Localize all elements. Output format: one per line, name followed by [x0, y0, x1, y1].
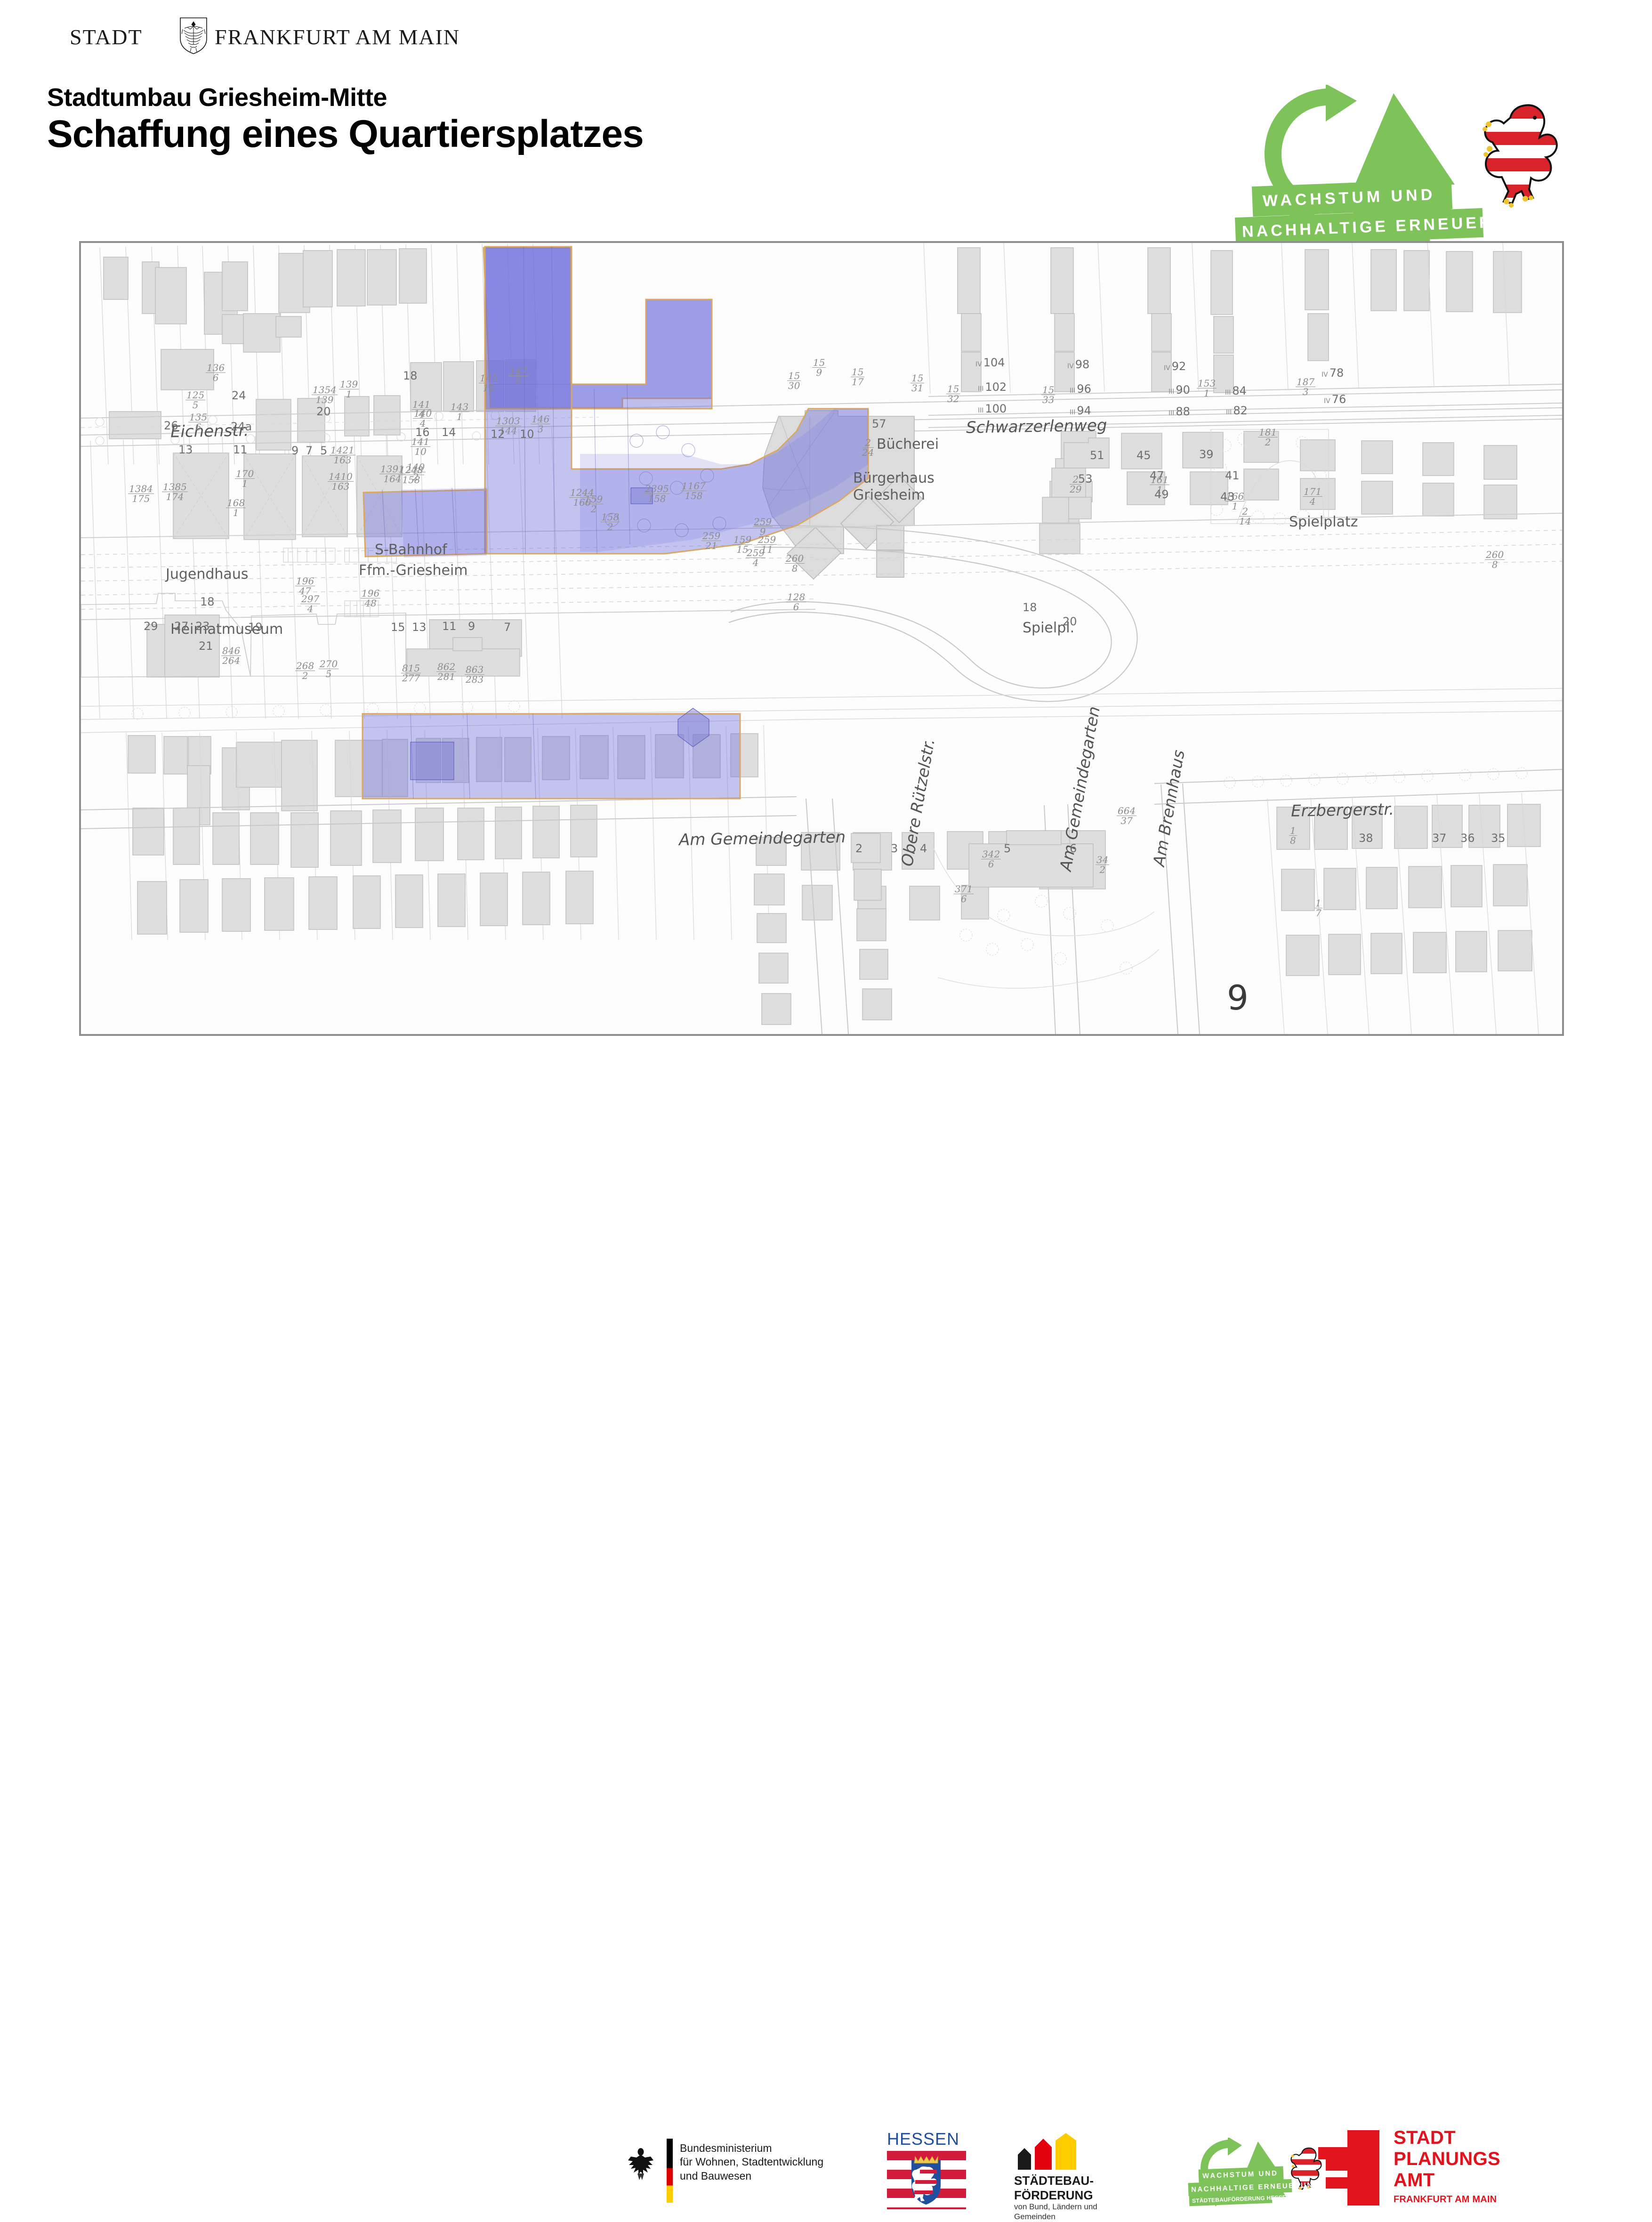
- parcel-number: 3426: [981, 849, 1001, 869]
- staedtebaufoerderung-logo: STÄDTEBAU- FÖRDERUNG von Bund, Ländern u…: [1012, 2133, 1149, 2213]
- parcel-number: 1385174: [162, 482, 188, 501]
- svg-text:9: 9: [1227, 978, 1249, 1018]
- parcel-number: 19647: [295, 576, 315, 596]
- parcel-number: 2608: [1485, 550, 1505, 569]
- street-label: Schwarzerlenweg: [966, 416, 1107, 437]
- parcel-number: 846264: [221, 646, 241, 665]
- parcel-number: 2608: [785, 554, 805, 573]
- parcel-number: 159: [812, 358, 826, 377]
- hessen-wordmark: HESSEN: [887, 2129, 959, 2149]
- house-number: 19: [248, 621, 263, 634]
- house-number: 27: [174, 620, 189, 633]
- parcel-number: 1404: [413, 409, 433, 428]
- page-header: STADT FRANKFU: [0, 0, 1652, 221]
- house-number: 13: [178, 443, 193, 456]
- house-number: 49: [1154, 488, 1169, 501]
- house-number: 53: [1078, 472, 1093, 485]
- house-number: IV78: [1322, 366, 1344, 380]
- house-number: 57: [872, 417, 886, 430]
- house-number: 35: [1491, 832, 1506, 845]
- house-number: 51: [1090, 449, 1104, 462]
- stbf-sub2: Gemeinden: [1014, 2212, 1097, 2222]
- street-label: Erzbergerstr.: [1291, 800, 1394, 821]
- spa-line1: STADT: [1394, 2127, 1500, 2149]
- stadtplanungsamt-mark-icon: [1318, 2130, 1379, 2206]
- house-number: 37: [1432, 832, 1447, 845]
- bundesadler-icon: [626, 2145, 655, 2182]
- parcel-number: 1410163: [328, 472, 354, 491]
- parcel-number: 1384175: [128, 484, 154, 503]
- parcel-number: 224: [862, 438, 874, 457]
- house-number: 24: [232, 389, 246, 402]
- house-number: 20: [1063, 615, 1077, 628]
- house-number: III82: [1226, 404, 1248, 417]
- house-number: 15: [391, 621, 405, 634]
- house-number: III94: [1070, 404, 1091, 417]
- house-number: III102: [978, 380, 1007, 394]
- three-houses-icon: [1014, 2133, 1085, 2171]
- parcel-number: 863283: [465, 665, 484, 684]
- hessen-shield-lion-icon: [911, 2154, 942, 2206]
- house-number: 4: [920, 842, 927, 855]
- parcel-number: 18: [1289, 826, 1297, 845]
- house-number: 26: [164, 419, 178, 432]
- parcel-number: 2974: [300, 594, 320, 614]
- place-label: Bürgerhaus: [853, 470, 935, 486]
- house-number: 2: [855, 842, 862, 855]
- stbf-sub1: von Bund, Ländern und: [1014, 2202, 1097, 2212]
- house-number: 5: [1004, 842, 1011, 855]
- hessen-lion-icon: [1469, 97, 1563, 215]
- house-number: 5: [320, 444, 327, 457]
- house-number: III96: [1070, 382, 1091, 396]
- parcel-number: 1421163: [330, 445, 355, 465]
- place-label: S-Bahnhof: [375, 541, 447, 558]
- parcel-number: 2705: [319, 659, 338, 679]
- parcel-number: 1681: [226, 498, 246, 517]
- house-number: 10: [520, 428, 534, 441]
- stbf-line1: STÄDTEBAU-: [1014, 2174, 1094, 2188]
- parcel-number: 66437: [1117, 806, 1136, 825]
- spa-subline: FRANKFURT AM MAIN: [1394, 2194, 1497, 2205]
- house-number: 9: [291, 444, 298, 457]
- house-number: 43: [1220, 490, 1235, 503]
- staedtebaufoerderung-sub: von Bund, Ländern und Gemeinden: [1014, 2202, 1097, 2222]
- house-number: 9: [468, 620, 475, 633]
- parcel-number: 1476: [508, 366, 528, 386]
- page-title: Schaffung eines Quartiersplatzes: [47, 112, 644, 156]
- parcel-number: 1701: [235, 469, 255, 488]
- house-number: III84: [1225, 384, 1247, 397]
- parcel-number: 1244160: [569, 488, 595, 507]
- parcel-number: 1812: [1258, 428, 1278, 447]
- house-number: 20: [316, 405, 331, 418]
- parcel-number: 1531: [911, 373, 924, 393]
- house-number: 21: [199, 639, 213, 653]
- parcel-number: 2682: [295, 661, 315, 680]
- stadt-frankfurt-logo: STADT FRANKFU: [70, 23, 371, 52]
- parcel-number: 1873: [1296, 377, 1315, 396]
- parcel-number: 3716: [954, 884, 974, 904]
- spa-line3: AMT: [1394, 2170, 1500, 2191]
- house-number: IV98: [1067, 358, 1089, 371]
- parcel-number: 1286: [786, 592, 806, 612]
- house-number: 13: [412, 621, 427, 634]
- bundesministerium-logo: Bundesministerium für Wohnen, Stadtentwi…: [626, 2137, 847, 2205]
- house-number: 3: [891, 842, 898, 855]
- house-number: III88: [1168, 405, 1190, 418]
- parcel-number: 25921: [701, 531, 721, 550]
- house-number: 7: [306, 444, 313, 457]
- house-number: 11: [233, 443, 248, 456]
- house-number: 18: [403, 369, 418, 382]
- cadastral-map[interactable]: 9: [79, 241, 1564, 1036]
- house-number: 41: [1225, 469, 1240, 482]
- parcel-number: 17: [1314, 898, 1322, 918]
- house-number: IV76: [1324, 393, 1346, 406]
- bmwsb-line1: Bundesministerium: [680, 2141, 823, 2155]
- house-number: 18: [200, 595, 215, 608]
- parcel-number: 342: [1096, 855, 1109, 874]
- parcel-number: 1517: [851, 367, 864, 387]
- house-number: 18: [1023, 601, 1037, 614]
- bmwsb-line3: und Bauwesen: [680, 2169, 823, 2183]
- house-number: 39: [1199, 448, 1214, 461]
- parcel-number: 1356: [188, 412, 208, 432]
- parcel-number: 1366: [206, 363, 226, 382]
- stadtplanungsamt-wordmark: STADT PLANUNGS AMT: [1394, 2127, 1500, 2190]
- parcel-number: 2594: [746, 548, 766, 567]
- hessen-logo: HESSEN: [884, 2129, 969, 2209]
- parcel-number: 14515: [479, 373, 499, 393]
- parcel-number: 19648: [361, 589, 380, 608]
- house-number: 14: [442, 426, 456, 439]
- parcel-number: 1530: [787, 371, 801, 390]
- house-number: 23: [195, 620, 210, 633]
- parcel-number: 862281: [436, 662, 456, 681]
- parcel-number: 815277: [401, 663, 421, 683]
- parcel-number: 1533: [1041, 385, 1055, 404]
- parcel-number: 2599: [753, 517, 773, 536]
- project-subtitle: Stadtumbau Griesheim-Mitte: [47, 83, 387, 112]
- house-number: 29: [144, 620, 158, 633]
- house-number: 12: [491, 428, 505, 441]
- parcel-number: 2395158: [644, 484, 670, 503]
- parcel-number: 1167158: [681, 481, 707, 501]
- parcel-number: 1255: [185, 390, 205, 410]
- place-label: Spielplatz: [1289, 514, 1358, 530]
- parcel-number: 14110: [411, 437, 430, 456]
- house-number: IV104: [975, 356, 1005, 369]
- house-number: 47: [1150, 469, 1164, 482]
- house-number: 7: [504, 621, 511, 634]
- house-number: 24a: [231, 420, 252, 433]
- house-number: III100: [978, 402, 1007, 415]
- street-label: Am Gemeindegarten: [679, 828, 846, 849]
- city-logo-word-frankfurt: FRANKFURT AM MAIN: [215, 24, 460, 49]
- place-label: Bücherei: [877, 436, 939, 452]
- parcel-number: 1714: [1303, 487, 1322, 506]
- parcel-number: 1248158: [398, 465, 424, 485]
- parcel-number: 1431: [450, 402, 469, 421]
- parcel-number: 1391: [339, 380, 359, 399]
- house-number: 45: [1136, 449, 1151, 462]
- parcel-number: 1531: [1197, 379, 1217, 398]
- house-number: 16: [415, 426, 430, 439]
- house-number: III90: [1168, 383, 1190, 396]
- house-number: 38: [1359, 832, 1373, 845]
- stbf-line2: FÖRDERUNG: [1014, 2188, 1094, 2203]
- parcel-number: 1532: [946, 384, 960, 404]
- place-label: Ffm.-Griesheim: [359, 562, 468, 579]
- german-flag-bar-icon: [667, 2139, 673, 2203]
- house-number: 6: [1070, 842, 1077, 855]
- city-logo-word-stadt: STADT: [70, 24, 143, 49]
- house-number: IV92: [1164, 360, 1186, 373]
- parcel-number: 1354139: [312, 385, 338, 404]
- parcel-number: 1582: [600, 512, 620, 532]
- stadtplanungsamt-logo: STADT PLANUNGS AMT FRANKFURT AM MAIN: [1318, 2127, 1563, 2212]
- bmwsb-name: Bundesministerium für Wohnen, Stadtentwi…: [680, 2141, 823, 2183]
- place-label: Jugendhaus: [166, 566, 248, 582]
- spa-line2: PLANUNGS: [1394, 2149, 1500, 2170]
- house-number: 11: [442, 620, 457, 633]
- staedtebaufoerderung-wordmark: STÄDTEBAU- FÖRDERUNG: [1014, 2174, 1094, 2202]
- bmwsb-line2: für Wohnen, Stadtentwicklung: [680, 2155, 823, 2169]
- house-number: 36: [1460, 832, 1475, 845]
- frankfurt-eagle-crest-icon: [179, 17, 208, 55]
- place-label: Griesheim: [853, 487, 925, 503]
- page-footer: Bundesministerium für Wohnen, Stadtentwi…: [0, 1059, 1652, 1168]
